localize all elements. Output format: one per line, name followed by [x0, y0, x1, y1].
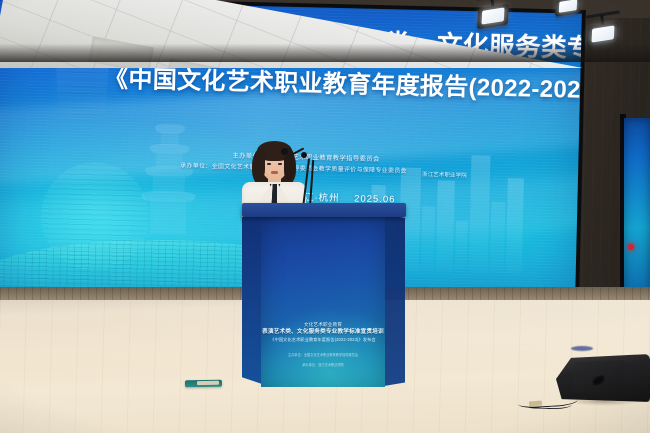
organizer-school-text: 浙江艺术职业学院	[422, 170, 467, 179]
podium-line2: 表演艺术类、文化服务类专业教学标准宣贯培训	[261, 328, 385, 336]
screenshot-root: 文化艺术职业教育表演艺术类、文化服务类专业教学标准宣贯培训 《中国文化艺术职业教…	[0, 0, 650, 433]
podium-side-right	[384, 214, 405, 386]
podium-sign-subtext: 主办单位：全国文化艺术职业教育教学指导委员会 承办单位：浙江艺术职业学院	[261, 353, 385, 368]
podium-line1: 文化艺术职业教育	[261, 321, 385, 328]
mouth	[271, 171, 278, 174]
podium: 文化艺术职业教育 表演艺术类、文化服务类专业教学标准宣贯培训 《中国文化艺术职业…	[250, 203, 398, 388]
cable-tag	[529, 401, 542, 407]
podium-side-left	[242, 214, 262, 384]
floor-power-outlet	[185, 380, 222, 388]
podium-sign-text: 文化艺术职业教育 表演艺术类、文化服务类专业教学标准宣贯培训 《中国文化艺术职业…	[261, 321, 385, 343]
podium-line3: 《中国文化艺术职业教育年度报告(2022-2023)》发布会	[261, 336, 385, 343]
hair-left	[255, 148, 265, 178]
status-indicator-light	[628, 244, 634, 250]
podium-sub2: 承办单位：浙江艺术职业学院	[261, 363, 385, 368]
microphone-head-secondary	[301, 152, 307, 158]
ceiling-edge-shadow	[0, 0, 650, 62]
podium-top-surface	[242, 203, 406, 217]
microphone-head	[281, 148, 288, 155]
